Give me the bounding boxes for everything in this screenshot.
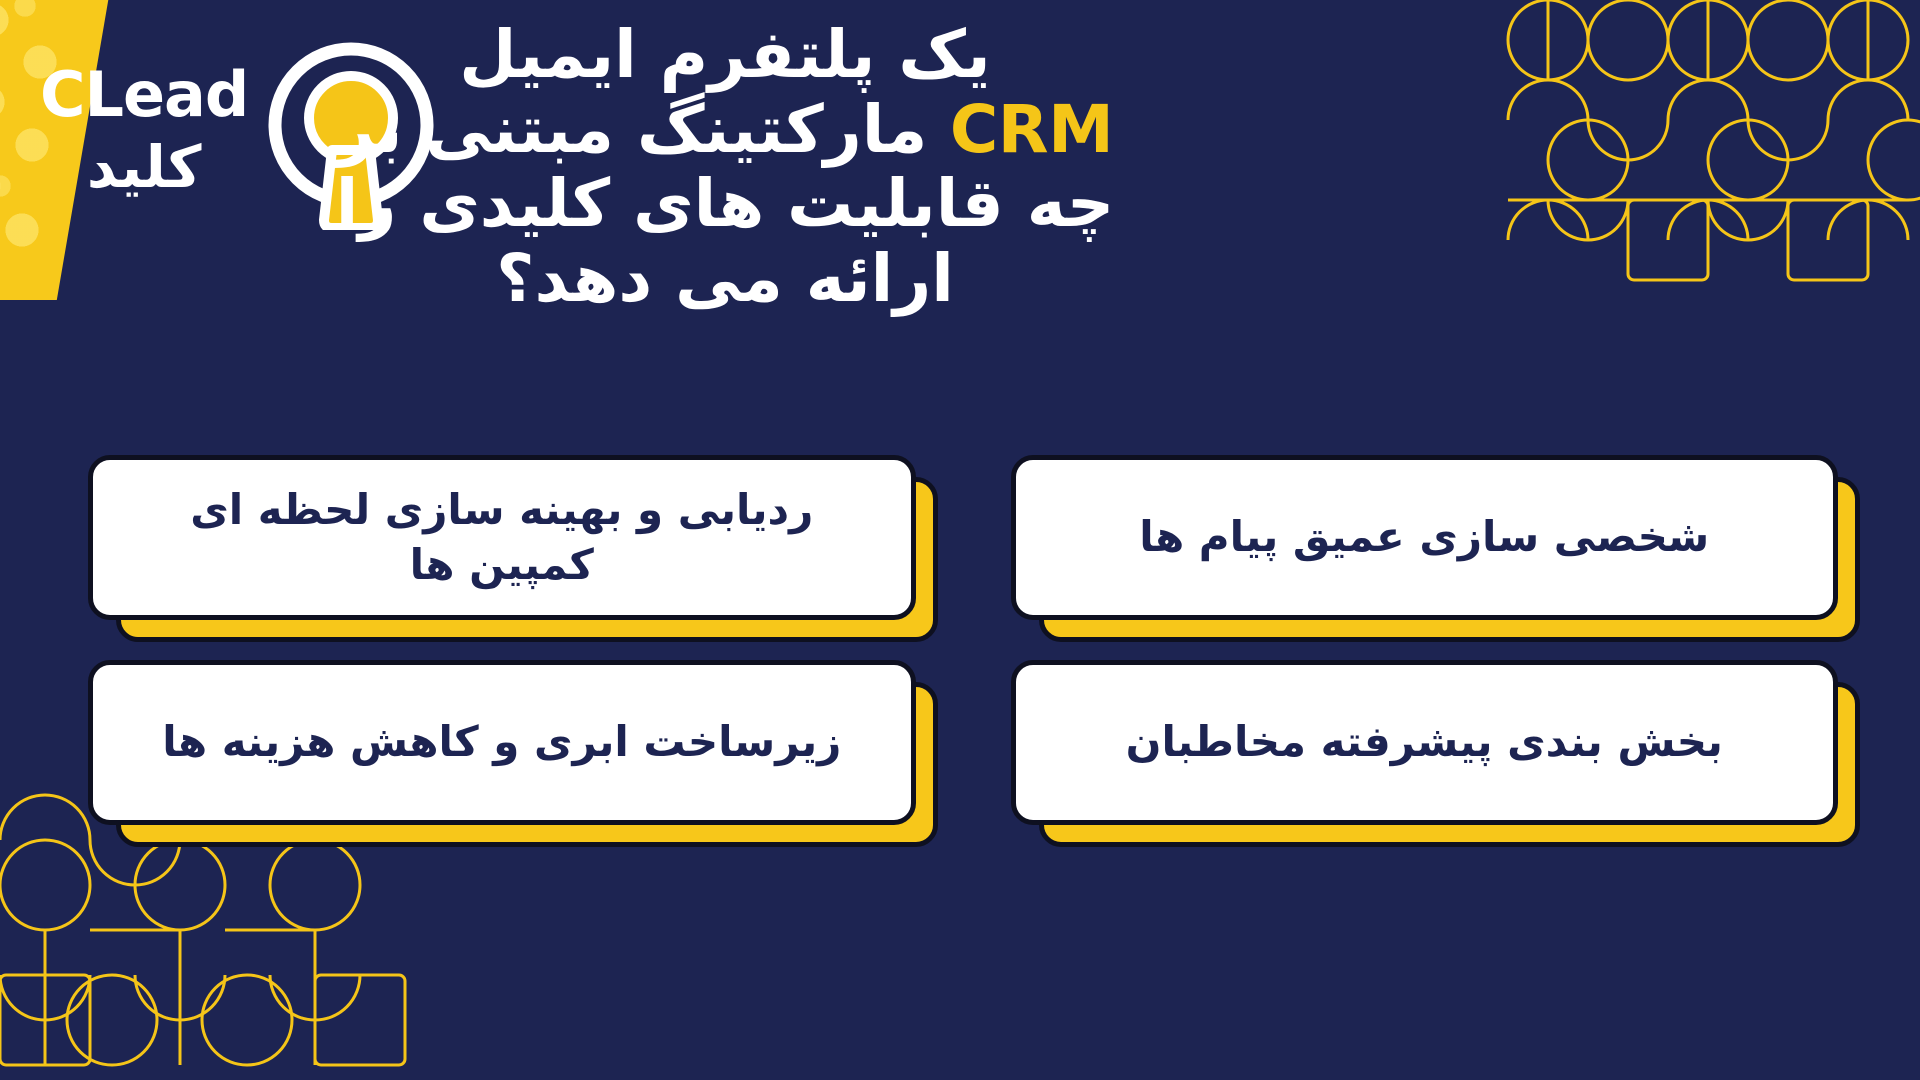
card-label: زیرساخت ابری و کاهش هزینه ها [162, 715, 841, 770]
brand-persian-name: کلید [87, 138, 202, 196]
card-face[interactable]: زیرساخت ابری و کاهش هزینه ها [88, 660, 916, 825]
feature-card-grid: شخصی سازی عمیق پیام ها ردیابی و بهینه سا… [88, 455, 1838, 825]
feature-card-realtime-tracking[interactable]: ردیابی و بهینه سازی لحظه ای کمپین ها [88, 455, 916, 620]
card-face[interactable]: شخصی سازی عمیق پیام ها [1011, 455, 1839, 620]
feature-card-advanced-segmentation[interactable]: بخش بندی پیشرفته مخاطبان [1011, 660, 1839, 825]
headline-crm-highlight: CRM [950, 91, 1113, 168]
card-face[interactable]: ردیابی و بهینه سازی لحظه ای کمپین ها [88, 455, 916, 620]
card-label: بخش بندی پیشرفته مخاطبان [1126, 715, 1723, 770]
feature-card-cloud-infrastructure[interactable]: زیرساخت ابری و کاهش هزینه ها [88, 660, 916, 825]
line-art-top-right-icon [1500, 0, 1920, 290]
poster-canvas: CLead کلید یک پلتفرم ایمیل CRM مارکتینگ … [0, 0, 1920, 1080]
card-label: شخصی سازی عمیق پیام ها [1139, 510, 1709, 565]
card-face[interactable]: بخش بندی پیشرفته مخاطبان [1011, 660, 1839, 825]
card-label: ردیابی و بهینه سازی لحظه ای کمپین ها [123, 483, 881, 592]
brand-latin-name: CLead [40, 64, 248, 126]
headline-line-3: چه قابلیت های کلیدی را [290, 167, 1160, 242]
headline-line-4: ارائه می دهد؟ [290, 242, 1160, 317]
page-title: یک پلتفرم ایمیل CRM مارکتینگ مبتنی بر چه… [290, 18, 1160, 316]
feature-card-personalization[interactable]: شخصی سازی عمیق پیام ها [1011, 455, 1839, 620]
brand-wordmark: CLead کلید [40, 64, 248, 196]
headline-line-2: CRM مارکتینگ مبتنی بر [290, 93, 1160, 168]
headline-line-2-text: مارکتینگ مبتنی بر [337, 91, 928, 168]
headline-line-1: یک پلتفرم ایمیل [290, 18, 1160, 93]
